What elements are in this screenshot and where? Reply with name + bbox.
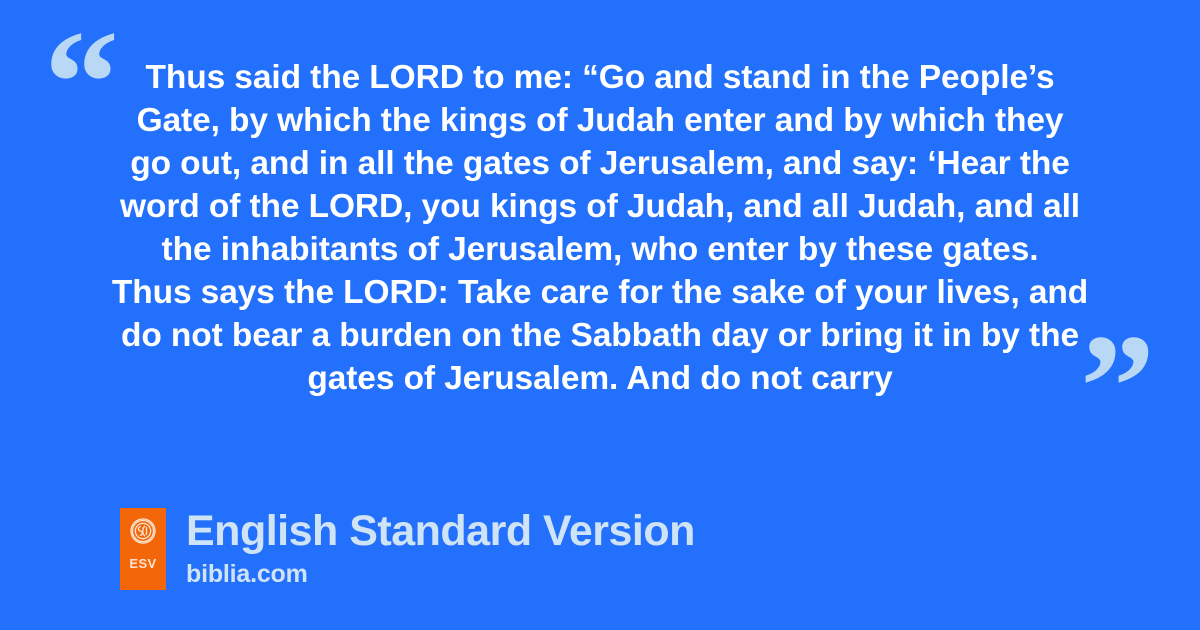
esv-logo-label: ESV [129,557,156,570]
esv-seal-icon [129,517,157,545]
site-url[interactable]: biblia.com [186,560,695,588]
close-quote-icon: ” [1080,312,1153,462]
quote-card: “ Thus said the LORD to me: “Go and stan… [0,0,1200,630]
attribution: ESV English Standard Version biblia.com [120,508,695,590]
quote-block: Thus said the LORD to me: “Go and stand … [100,56,1100,400]
quote-text: Thus said the LORD to me: “Go and stand … [100,56,1100,400]
esv-logo: ESV [120,508,166,590]
attribution-text: English Standard Version biblia.com [186,508,695,588]
bible-version-name: English Standard Version [186,508,695,555]
